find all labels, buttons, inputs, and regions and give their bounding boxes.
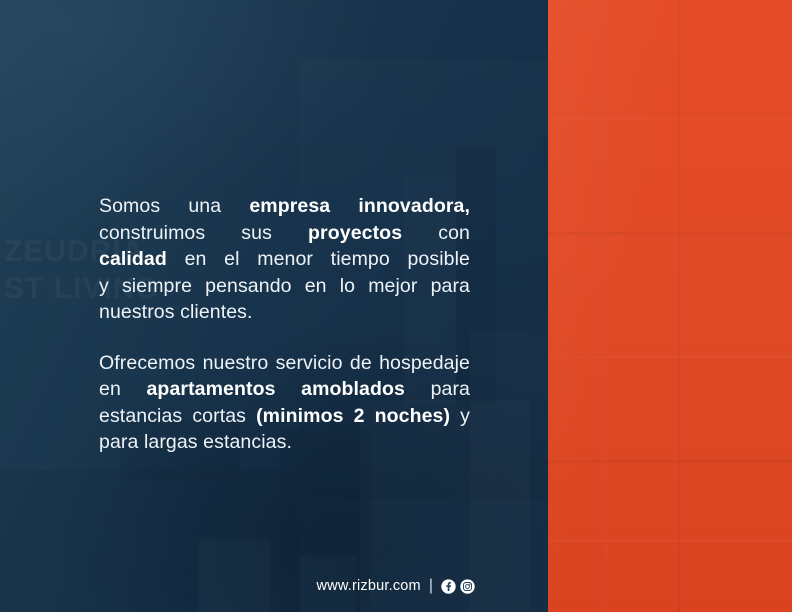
- body-copy: Somos una empresa innovadora,construimos…: [99, 193, 470, 456]
- copy-text: y: [450, 405, 470, 427]
- copy-line: Somos una empresa innovadora,: [99, 193, 470, 220]
- copy-emphasis: empresa innovadora,: [249, 195, 470, 217]
- copy-emphasis: proyectos: [308, 222, 402, 244]
- website-url[interactable]: www.rizbur.com: [317, 578, 421, 594]
- copy-text: construimos: [99, 222, 205, 244]
- orange-panel: CONSTRUCTORA & NEGOCIOS INMOBILIARIOS RI…: [548, 0, 792, 612]
- copy-text: Somos: [99, 195, 160, 217]
- footer: www.rizbur.com |: [317, 577, 475, 595]
- copy-emphasis: apartamentos amoblados: [146, 378, 405, 400]
- social-links: [441, 579, 475, 594]
- copy-line: calidad en el menor tiempo posible: [99, 246, 470, 273]
- brochure-page: ZEUDRIA ST LIVING: [0, 0, 792, 612]
- facebook-icon[interactable]: [441, 579, 456, 594]
- copy-line: y siempre pensando en lo mejor para: [99, 273, 470, 300]
- copy-line: estancias cortas (minimos 2 noches) y: [99, 403, 470, 430]
- copy-text: Ofrecemos nuestro servicio de hospedaje: [99, 352, 470, 374]
- copy-text: estancias cortas: [99, 405, 256, 427]
- copy-text: en el menor tiempo posible: [167, 248, 470, 270]
- copy-emphasis: calidad: [99, 248, 167, 270]
- copy-line: en apartamentos amoblados para: [99, 376, 470, 403]
- copy-text: una: [160, 195, 249, 217]
- copy-line: para largas estancias.: [99, 429, 470, 456]
- footer-separator: |: [429, 577, 433, 595]
- copy-line: Ofrecemos nuestro servicio de hospedaje: [99, 350, 470, 377]
- instagram-icon[interactable]: [460, 579, 475, 594]
- copy-text: en: [99, 378, 146, 400]
- copy-line: construimos sus proyectos con: [99, 220, 470, 247]
- copy-text: nuestros clientes.: [99, 301, 253, 323]
- copy-text: y siempre pensando en lo mejor para: [99, 275, 470, 297]
- copy-text: para largas estancias.: [99, 431, 292, 453]
- copy-emphasis: (minimos 2 noches): [256, 405, 450, 427]
- paragraph-2: Ofrecemos nuestro servicio de hospedajee…: [99, 350, 470, 456]
- copy-text: con: [402, 222, 470, 244]
- copy-text: sus: [205, 222, 308, 244]
- copy-text: para: [405, 378, 470, 400]
- paragraph-1: Somos una empresa innovadora,construimos…: [99, 193, 470, 326]
- copy-line: nuestros clientes.: [99, 299, 470, 326]
